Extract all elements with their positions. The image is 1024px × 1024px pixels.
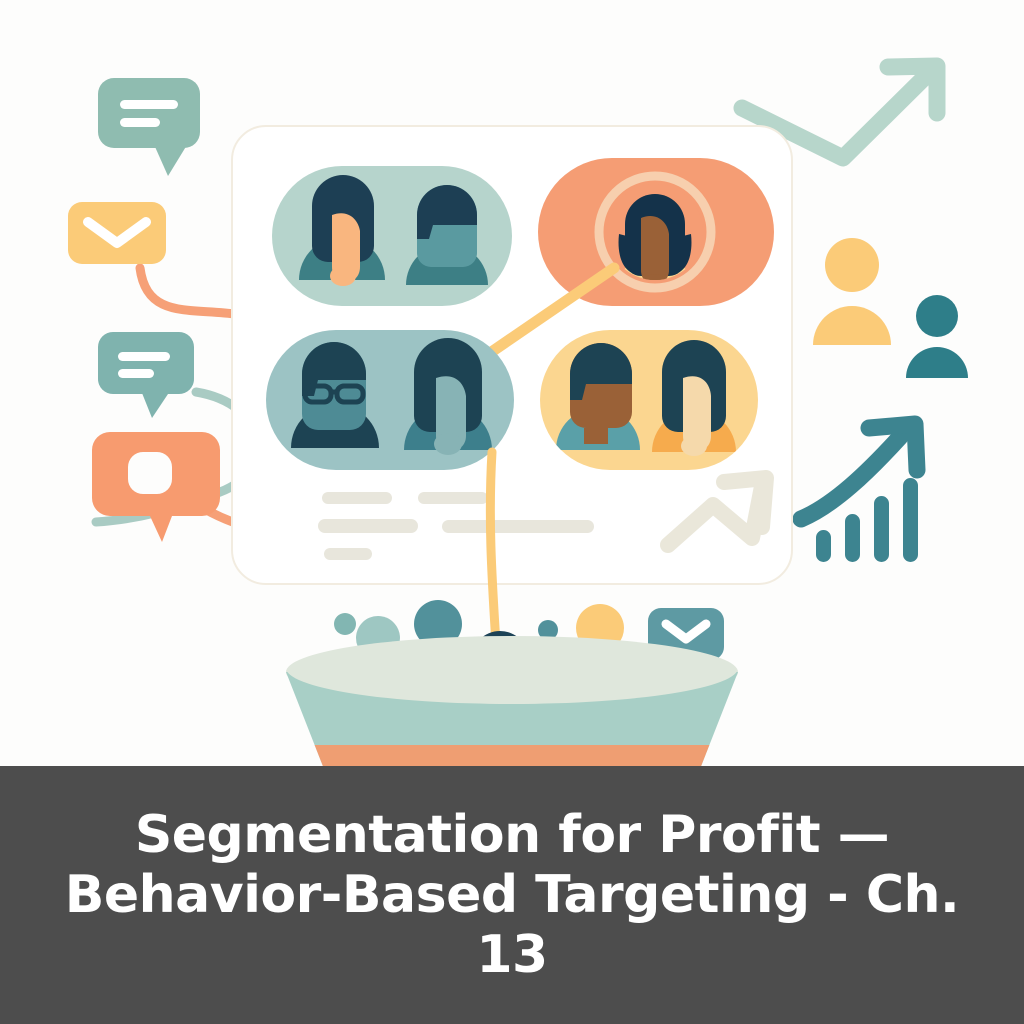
- envelope-yellow-icon: [68, 202, 166, 264]
- connector-yellow-funnel: [490, 452, 496, 644]
- segment-pill-yellow: [540, 330, 758, 470]
- segment-pill-blue: [266, 330, 514, 470]
- segment-pill-teal-green: [272, 166, 512, 306]
- title-overlay-band: Segmentation for Profit — Behavior-Based…: [0, 766, 1024, 1024]
- segment-pill-orange: [538, 158, 774, 306]
- page-title: Segmentation for Profit — Behavior-Based…: [30, 805, 994, 985]
- segment-card: [232, 126, 792, 584]
- slide-canvas: Segmentation for Profit — Behavior-Based…: [0, 0, 1024, 1024]
